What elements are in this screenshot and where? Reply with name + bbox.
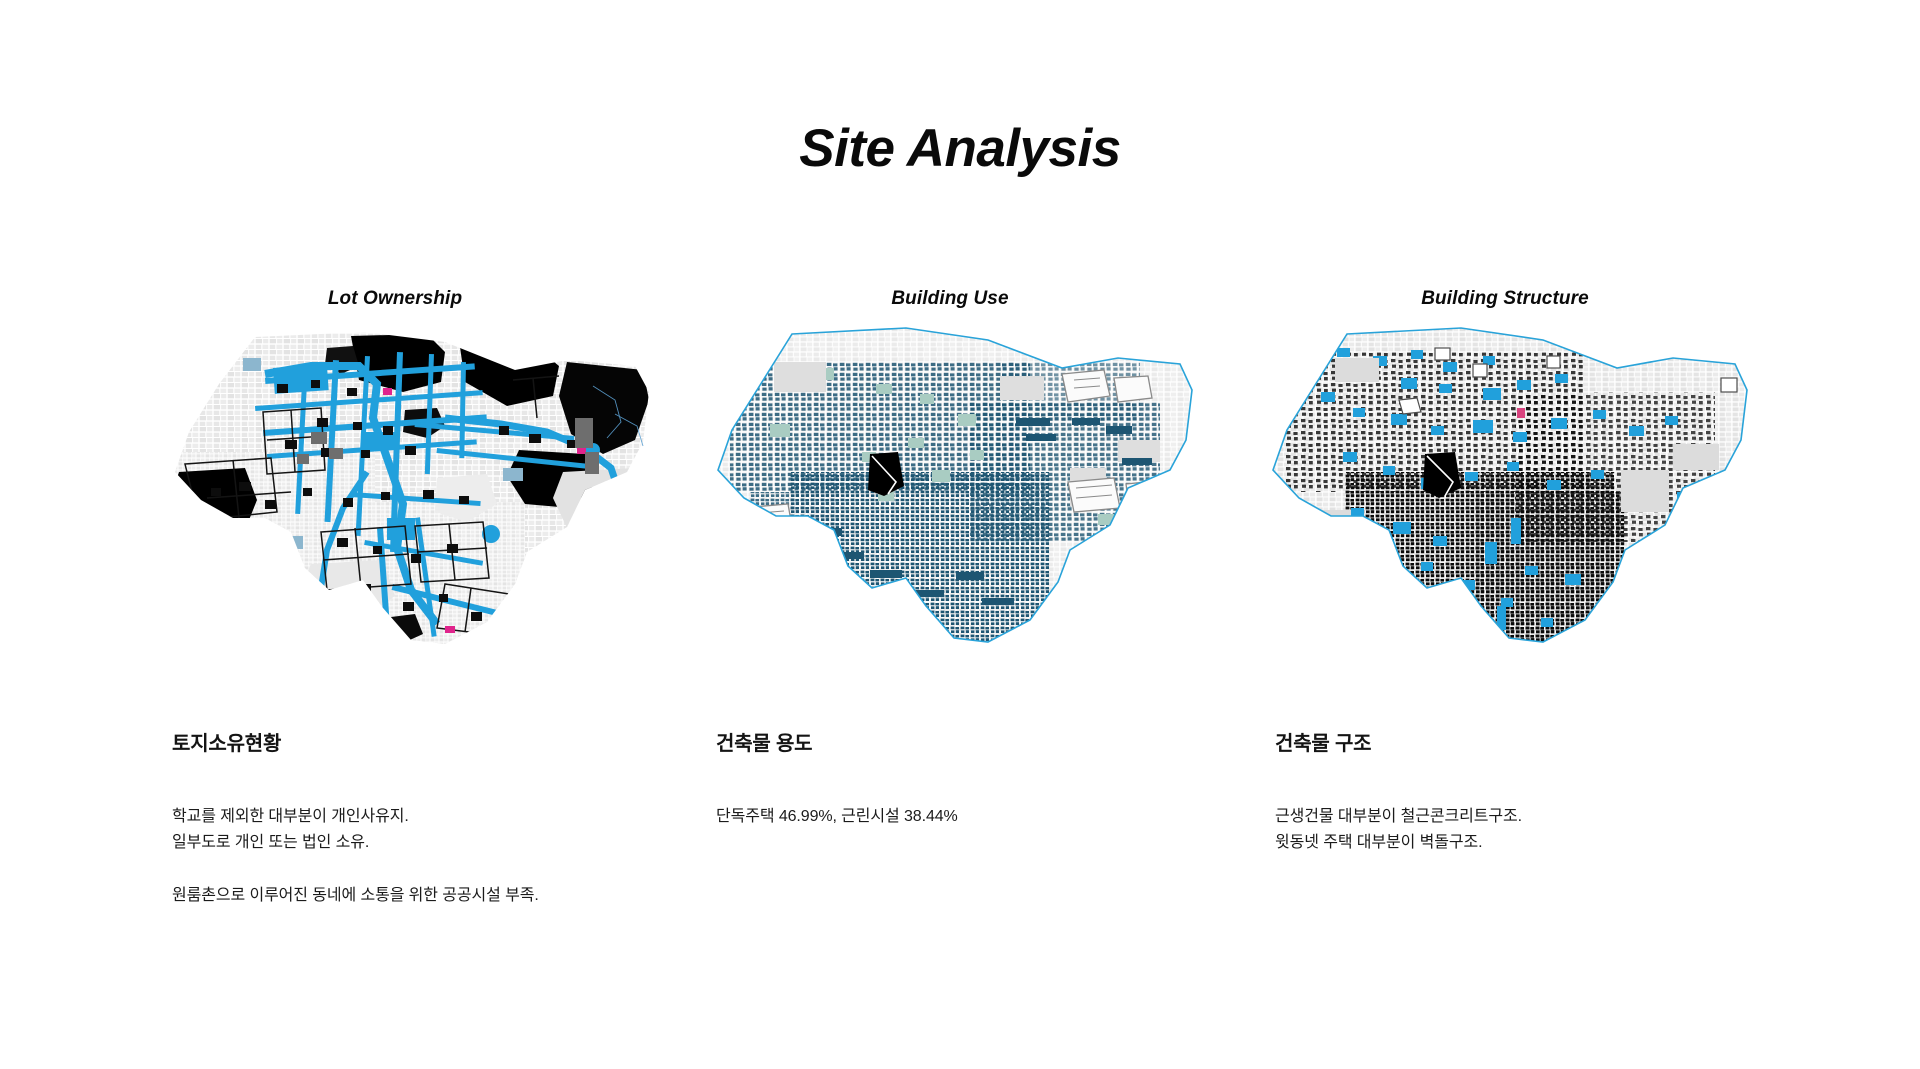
caption-line: 원룸촌으로 이루어진 동네에 소통을 위한 공공시설 부족. (172, 883, 732, 909)
caption-line: 단독주택 46.99%, 근린시설 38.44% (716, 804, 1276, 830)
caption-title-building-structure: 건축물 구조 (1275, 732, 1835, 756)
caption-line: 학교를 제외한 대부분이 개인사유지. (172, 804, 732, 830)
caption-title-lot-ownership: 토지소유현황 (172, 732, 732, 756)
caption-building-structure: 건축물 구조 근생건물 대부분이 철근콘크리트구조. 윗동넷 주택 대부분이 벽… (1225, 732, 1835, 857)
column-header-building-structure: Building Structure (1225, 282, 1785, 316)
caption-building-use: 건축물 용도 단독주택 46.99%, 근린시설 38.44% (670, 732, 1276, 830)
analysis-columns: Lot Ownership (0, 282, 1920, 1002)
caption-spacer (172, 857, 732, 883)
caption-line: 근생건물 대부분이 철근콘크리트구조. (1275, 804, 1835, 830)
page-title: Site Analysis (0, 122, 1920, 175)
lot-ownership-geometry (115, 322, 675, 652)
column-header-lot-ownership: Lot Ownership (115, 282, 675, 316)
column-lot-ownership: Lot Ownership (115, 282, 675, 1002)
column-building-structure: Building Structure (1225, 282, 1785, 1002)
building-structure-map (1225, 322, 1785, 652)
caption-line: 일부도로 개인 또는 법인 소유. (172, 830, 732, 856)
caption-line: 윗동넷 주택 대부분이 벽돌구조. (1275, 830, 1835, 856)
lot-ownership-map (115, 322, 675, 652)
column-header-building-use: Building Use (670, 282, 1230, 316)
building-use-map (670, 322, 1230, 652)
caption-title-building-use: 건축물 용도 (716, 732, 1276, 756)
slide-canvas: Site Analysis Lot Ownership (0, 0, 1920, 1069)
building-use-geometry (670, 322, 1230, 652)
caption-lot-ownership: 토지소유현황 학교를 제외한 대부분이 개인사유지. 일부도로 개인 또는 법인… (115, 732, 732, 909)
building-structure-geometry (1225, 322, 1785, 652)
column-building-use: Building Use (670, 282, 1230, 1002)
